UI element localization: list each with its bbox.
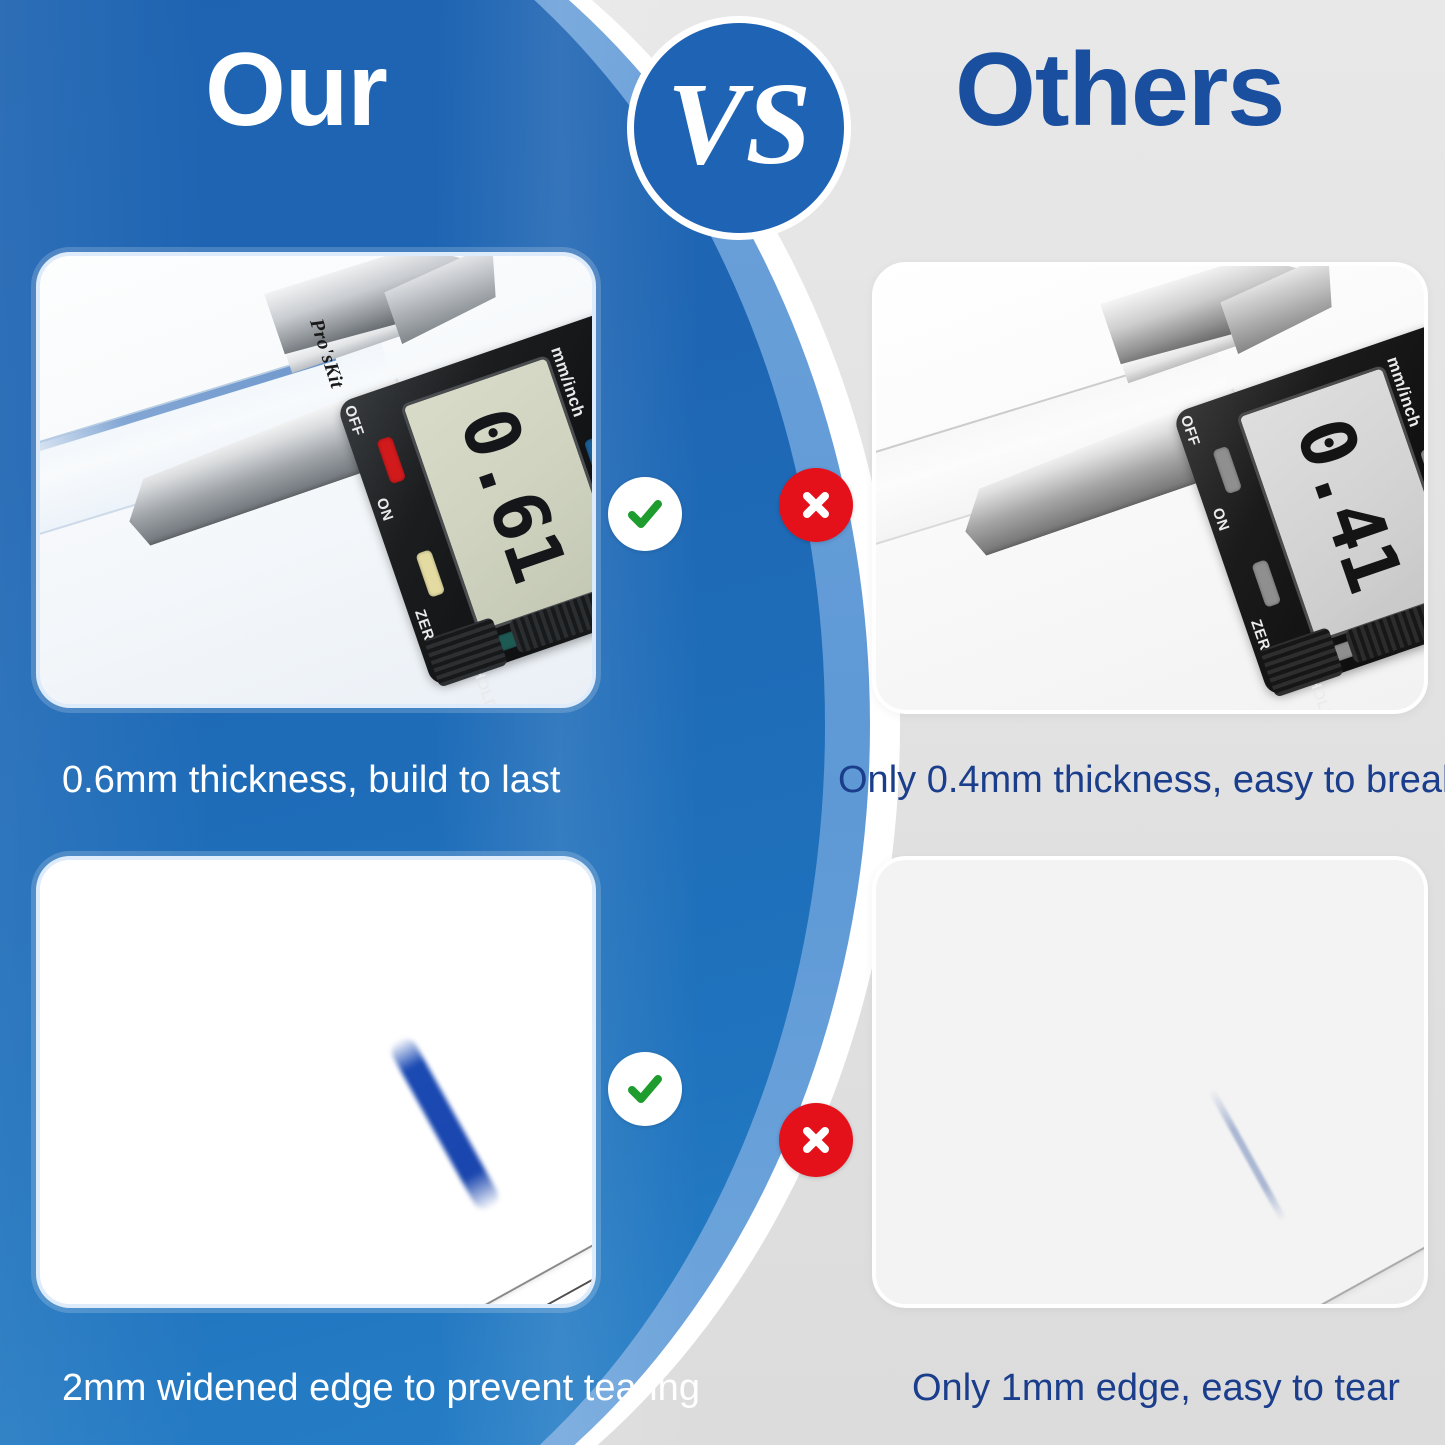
our-edge-caption: 2mm widened edge to prevent tearing xyxy=(62,1368,700,1410)
close-icon xyxy=(796,1120,836,1160)
others-edge-illustration xyxy=(876,860,1424,1304)
vs-label: VS xyxy=(667,65,811,183)
our-edge-check-badge xyxy=(608,1052,682,1126)
check-icon xyxy=(623,492,667,536)
our-edge-illustration xyxy=(40,860,592,1304)
others-edge-cross-badge xyxy=(779,1103,853,1177)
others-thickness-caption: Only 0.4mm thickness, easy to break xyxy=(838,760,1445,802)
comparison-infographic: Our Others VS Pro'sKit 0.61 mm xyxy=(0,0,1445,1445)
others-thickness-image-card: 0.41 mm OFF ON ZERO HOLD mm/inch xyxy=(872,262,1428,714)
check-icon xyxy=(623,1067,667,1111)
screen-protector-outline xyxy=(876,860,1424,1304)
our-heading: Our xyxy=(205,38,387,142)
caliper-measurement-value: 0.61 xyxy=(449,399,578,589)
others-caliper-illustration: 0.41 mm OFF ON ZERO HOLD mm/inch xyxy=(876,266,1424,710)
close-icon xyxy=(796,485,836,525)
our-edge-image-card xyxy=(36,856,596,1308)
others-heading: Others xyxy=(955,38,1284,142)
screen-protector-inner-outline xyxy=(40,860,592,1304)
others-edge-caption: Only 1mm edge, easy to tear xyxy=(912,1368,1400,1410)
our-thickness-check-badge xyxy=(608,477,682,551)
caliper-unit-label: mm xyxy=(595,518,596,559)
others-thickness-cross-badge xyxy=(779,468,853,542)
our-thickness-image-card: Pro'sKit 0.61 mm OFF ON ZERO HOLD mm/inc… xyxy=(36,252,596,708)
others-edge-image-card xyxy=(872,856,1428,1308)
caliper-measurement-value: 0.41 xyxy=(1285,409,1414,599)
our-caliper-illustration: Pro'sKit 0.61 mm OFF ON ZERO HOLD mm/inc… xyxy=(40,256,592,704)
our-thickness-caption: 0.6mm thickness, build to last xyxy=(62,760,560,802)
vs-badge: VS xyxy=(627,16,851,240)
